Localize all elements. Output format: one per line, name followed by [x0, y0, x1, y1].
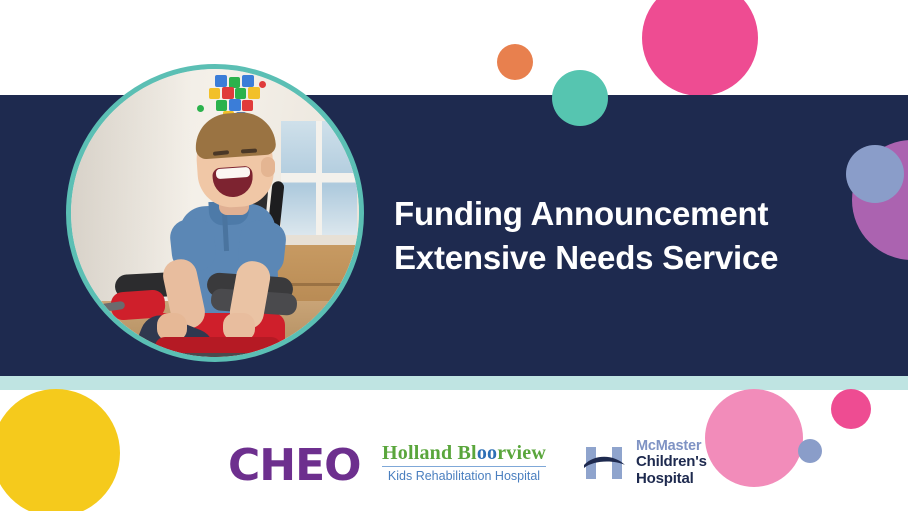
orange-circle-decoration: [497, 44, 533, 80]
mcmaster-line-3: Hospital: [636, 471, 707, 488]
title-line-1: Funding Announcement: [394, 192, 864, 236]
holland-bloorview-wordmark: Holland Bloorview: [381, 442, 547, 465]
hero-photo-image: [71, 69, 359, 357]
hero-photo-circle: [66, 64, 364, 362]
pink-circle-small-decoration: [831, 389, 871, 429]
cheo-logo: CHEO: [228, 440, 361, 491]
teal-circle-decoration: [552, 70, 608, 126]
slide-title: Funding Announcement Extensive Needs Ser…: [394, 192, 864, 280]
mcmaster-childrens-hospital-logo: McMaster Children's Hospital: [580, 438, 707, 488]
mcmaster-logo-text: McMaster Children's Hospital: [636, 438, 707, 488]
holland-bloorview-subtitle: Kids Rehabilitation Hospital: [381, 469, 547, 483]
title-line-2: Extensive Needs Service: [394, 236, 864, 280]
hb-name-oo: oo: [477, 442, 497, 464]
partner-logos: CHEO Holland Bloorview Kids Rehabilitati…: [0, 432, 908, 502]
mcmaster-line-2: Children's: [636, 454, 707, 471]
slide-canvas: Funding Announcement Extensive Needs Ser…: [0, 0, 908, 511]
hb-name-part2: rview: [497, 442, 546, 464]
mcmaster-line-1: McMaster: [636, 438, 707, 454]
holland-bloorview-logo: Holland Bloorview Kids Rehabilitation Ho…: [381, 442, 547, 483]
h-monogram-icon: [580, 441, 628, 485]
hb-name-part1: Holland Bl: [382, 442, 477, 464]
teal-divider-stripe: [0, 376, 908, 390]
hb-divider-rule: [382, 466, 546, 467]
pink-circle-large-decoration: [642, 0, 758, 96]
